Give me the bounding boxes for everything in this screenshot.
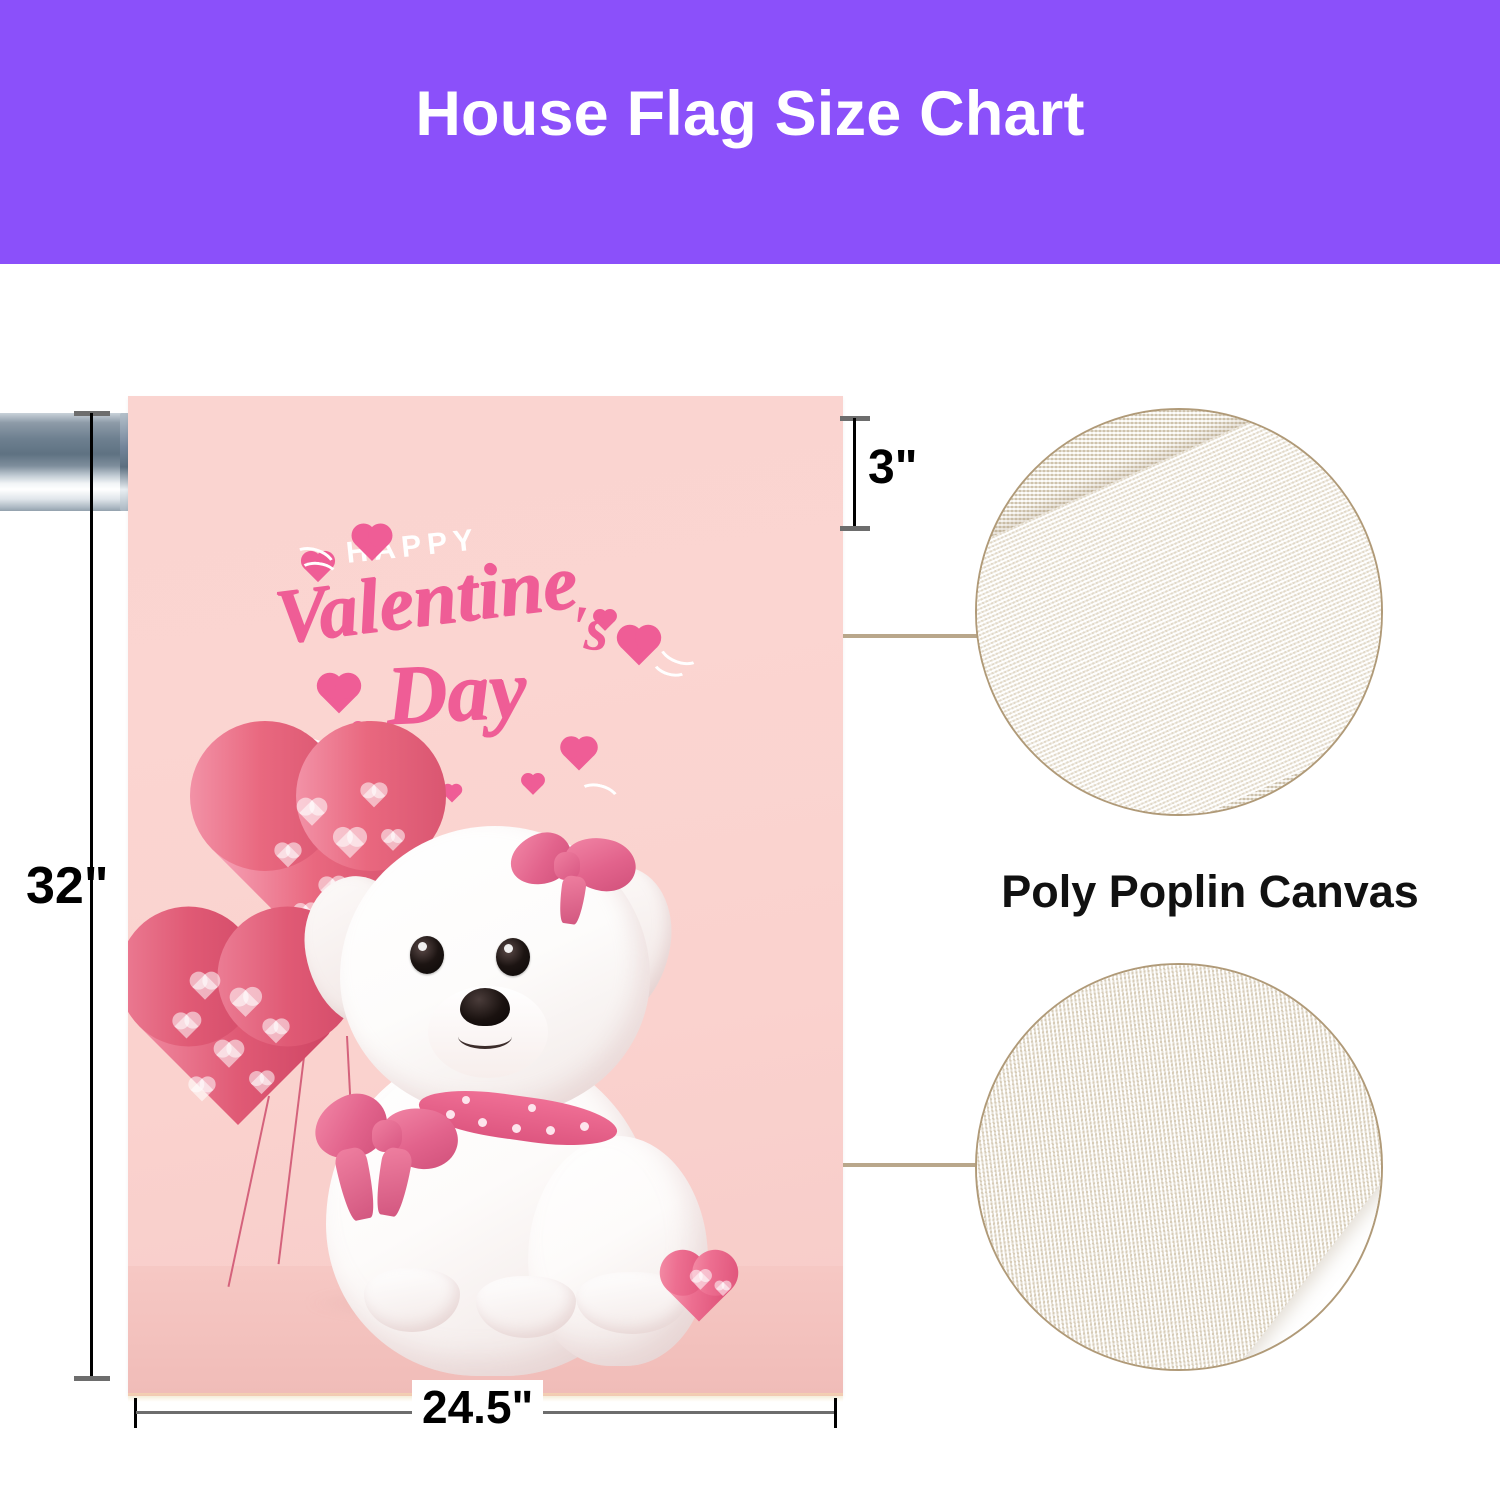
dog-eye-highlight bbox=[418, 942, 427, 951]
dog-eye-right bbox=[496, 938, 530, 976]
width-dim-tick-right bbox=[834, 1398, 837, 1428]
balloon-heart-pattern bbox=[191, 1079, 214, 1102]
dog-mouth bbox=[458, 1024, 512, 1049]
swatch-connector-top bbox=[843, 634, 993, 638]
fabric-swatch-bottom bbox=[975, 963, 1383, 1371]
fabric-swatch-top bbox=[975, 408, 1383, 816]
collar-dot bbox=[580, 1122, 589, 1131]
collar-dot bbox=[512, 1124, 521, 1133]
decor-heart-icon bbox=[321, 677, 358, 714]
decor-heart-icon bbox=[563, 739, 594, 770]
width-dim-label: 24.5" bbox=[412, 1380, 543, 1434]
material-caption: Poly Poplin Canvas bbox=[975, 866, 1445, 918]
collar-dot bbox=[528, 1104, 536, 1112]
decor-heart-icon bbox=[523, 775, 543, 795]
dog-eye-highlight bbox=[504, 944, 513, 953]
collar-dot bbox=[462, 1096, 470, 1104]
collar-dot bbox=[546, 1126, 555, 1135]
collar-dot bbox=[478, 1118, 487, 1127]
dog-nose bbox=[460, 988, 510, 1026]
decor-swirl-icon bbox=[573, 779, 622, 817]
height-dim-tick-bottom bbox=[74, 1376, 110, 1381]
sleeve-dim-line bbox=[853, 418, 856, 528]
height-dim-label: 32" bbox=[26, 856, 109, 916]
flag-image: HAPPY Valentine 's Day bbox=[128, 396, 843, 1396]
neck-bow-knot bbox=[372, 1120, 402, 1152]
balloon-string bbox=[227, 1096, 269, 1287]
sleeve-dim-tick-bottom bbox=[840, 526, 870, 531]
dog-eye-left bbox=[410, 936, 444, 974]
sleeve-dim-label: 3" bbox=[868, 440, 917, 495]
swatch-connector-bottom bbox=[843, 1163, 993, 1167]
flag-pole bbox=[0, 413, 132, 511]
page-title: House Flag Size Chart bbox=[0, 78, 1500, 150]
